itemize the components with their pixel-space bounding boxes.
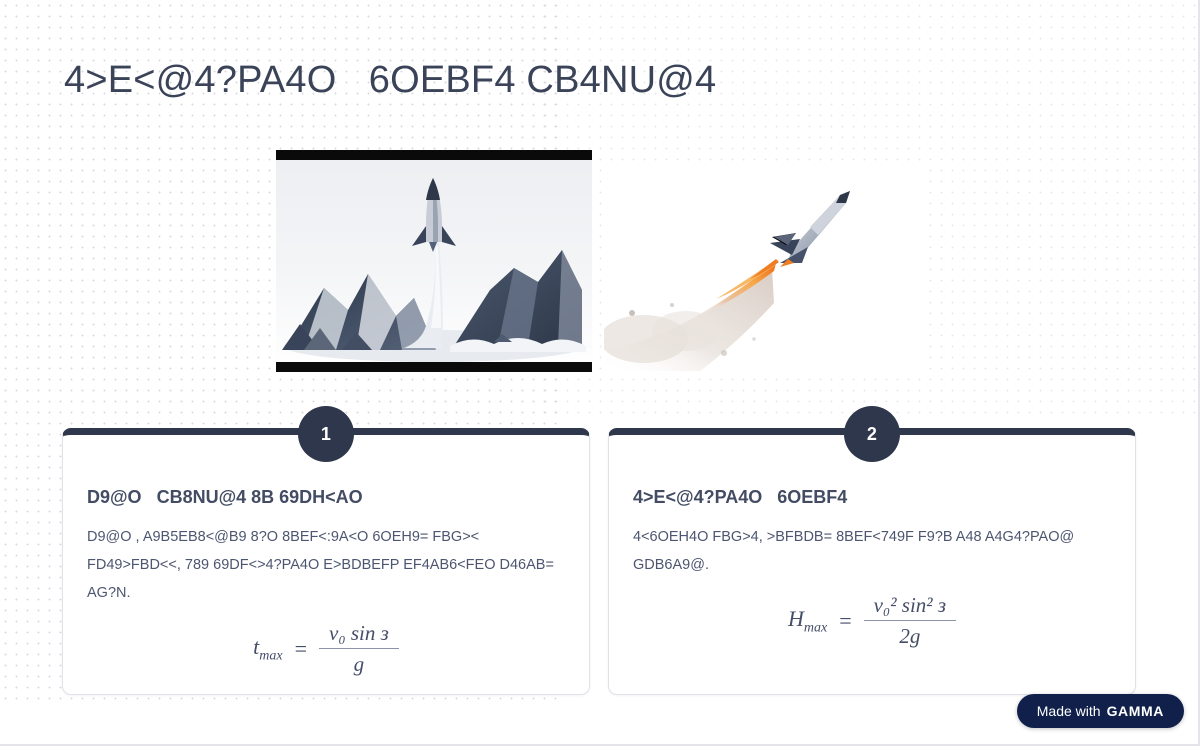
- concept-card-2: 2 4>E<@4?PA4O 6OEBF4 4<6OEH4O FBG>4, >BF…: [608, 428, 1136, 695]
- card-2-body-text: 4<6OEH4O FBG>4, >BFBDB= 8BEF<749F F9?B A…: [633, 523, 1111, 579]
- card-2-formula-numerator: v₀² sin² з: [864, 593, 956, 621]
- made-with-label: Made with: [1037, 703, 1101, 719]
- rocket-launch-mountains-image: [276, 150, 592, 372]
- card-2-heading: 4>E<@4?PA4O 6OEBF4: [633, 485, 1113, 509]
- card-2-formula: Hmax = v₀² sin² з 2g: [609, 593, 1135, 649]
- card-1-heading: D9@O CB8NU@4 8B 69DH<AO: [87, 485, 567, 509]
- card-2-formula-lhs: Hmax: [788, 606, 827, 636]
- card-1-formula-numerator: v₀ sin з: [319, 621, 399, 649]
- card-2-number-badge: 2: [844, 406, 900, 462]
- card-2-formula-fraction: v₀² sin² з 2g: [864, 593, 956, 649]
- card-1-formula-fraction: v₀ sin з g: [319, 621, 399, 677]
- card-1-formula: tmax = v₀ sin з g: [63, 621, 589, 677]
- card-1-formula-lhs: tmax: [253, 634, 282, 664]
- made-with-gamma-badge[interactable]: Made with GAMMA: [1017, 694, 1184, 728]
- rocket-ascending-plume-illustration: [604, 163, 922, 373]
- card-1-number-badge: 1: [298, 406, 354, 462]
- slide-canvas: 4>E<@4?PA4O 6OEBF4 CB4NU@4: [0, 0, 1200, 746]
- card-2-formula-denominator: 2g: [889, 621, 930, 649]
- gamma-brand-label: GAMMA: [1107, 703, 1164, 719]
- card-1-body-text: D9@O , A9B5EB8<@B9 8?O 8BEF<:9A<O 6OEH9=…: [87, 523, 565, 607]
- card-1-formula-denominator: g: [344, 649, 375, 677]
- rocket-launch-mountains-illustration: [276, 150, 592, 372]
- concept-card-1: 1 D9@O CB8NU@4 8B 69DH<AO D9@O , A9B5EB8…: [62, 428, 590, 695]
- page-title: 4>E<@4?PA4O 6OEBF4 CB4NU@4: [64, 56, 1114, 104]
- rocket-ascending-plume-image: [604, 163, 922, 373]
- card-1-formula-equals: =: [295, 636, 307, 662]
- card-2-formula-equals: =: [839, 608, 851, 634]
